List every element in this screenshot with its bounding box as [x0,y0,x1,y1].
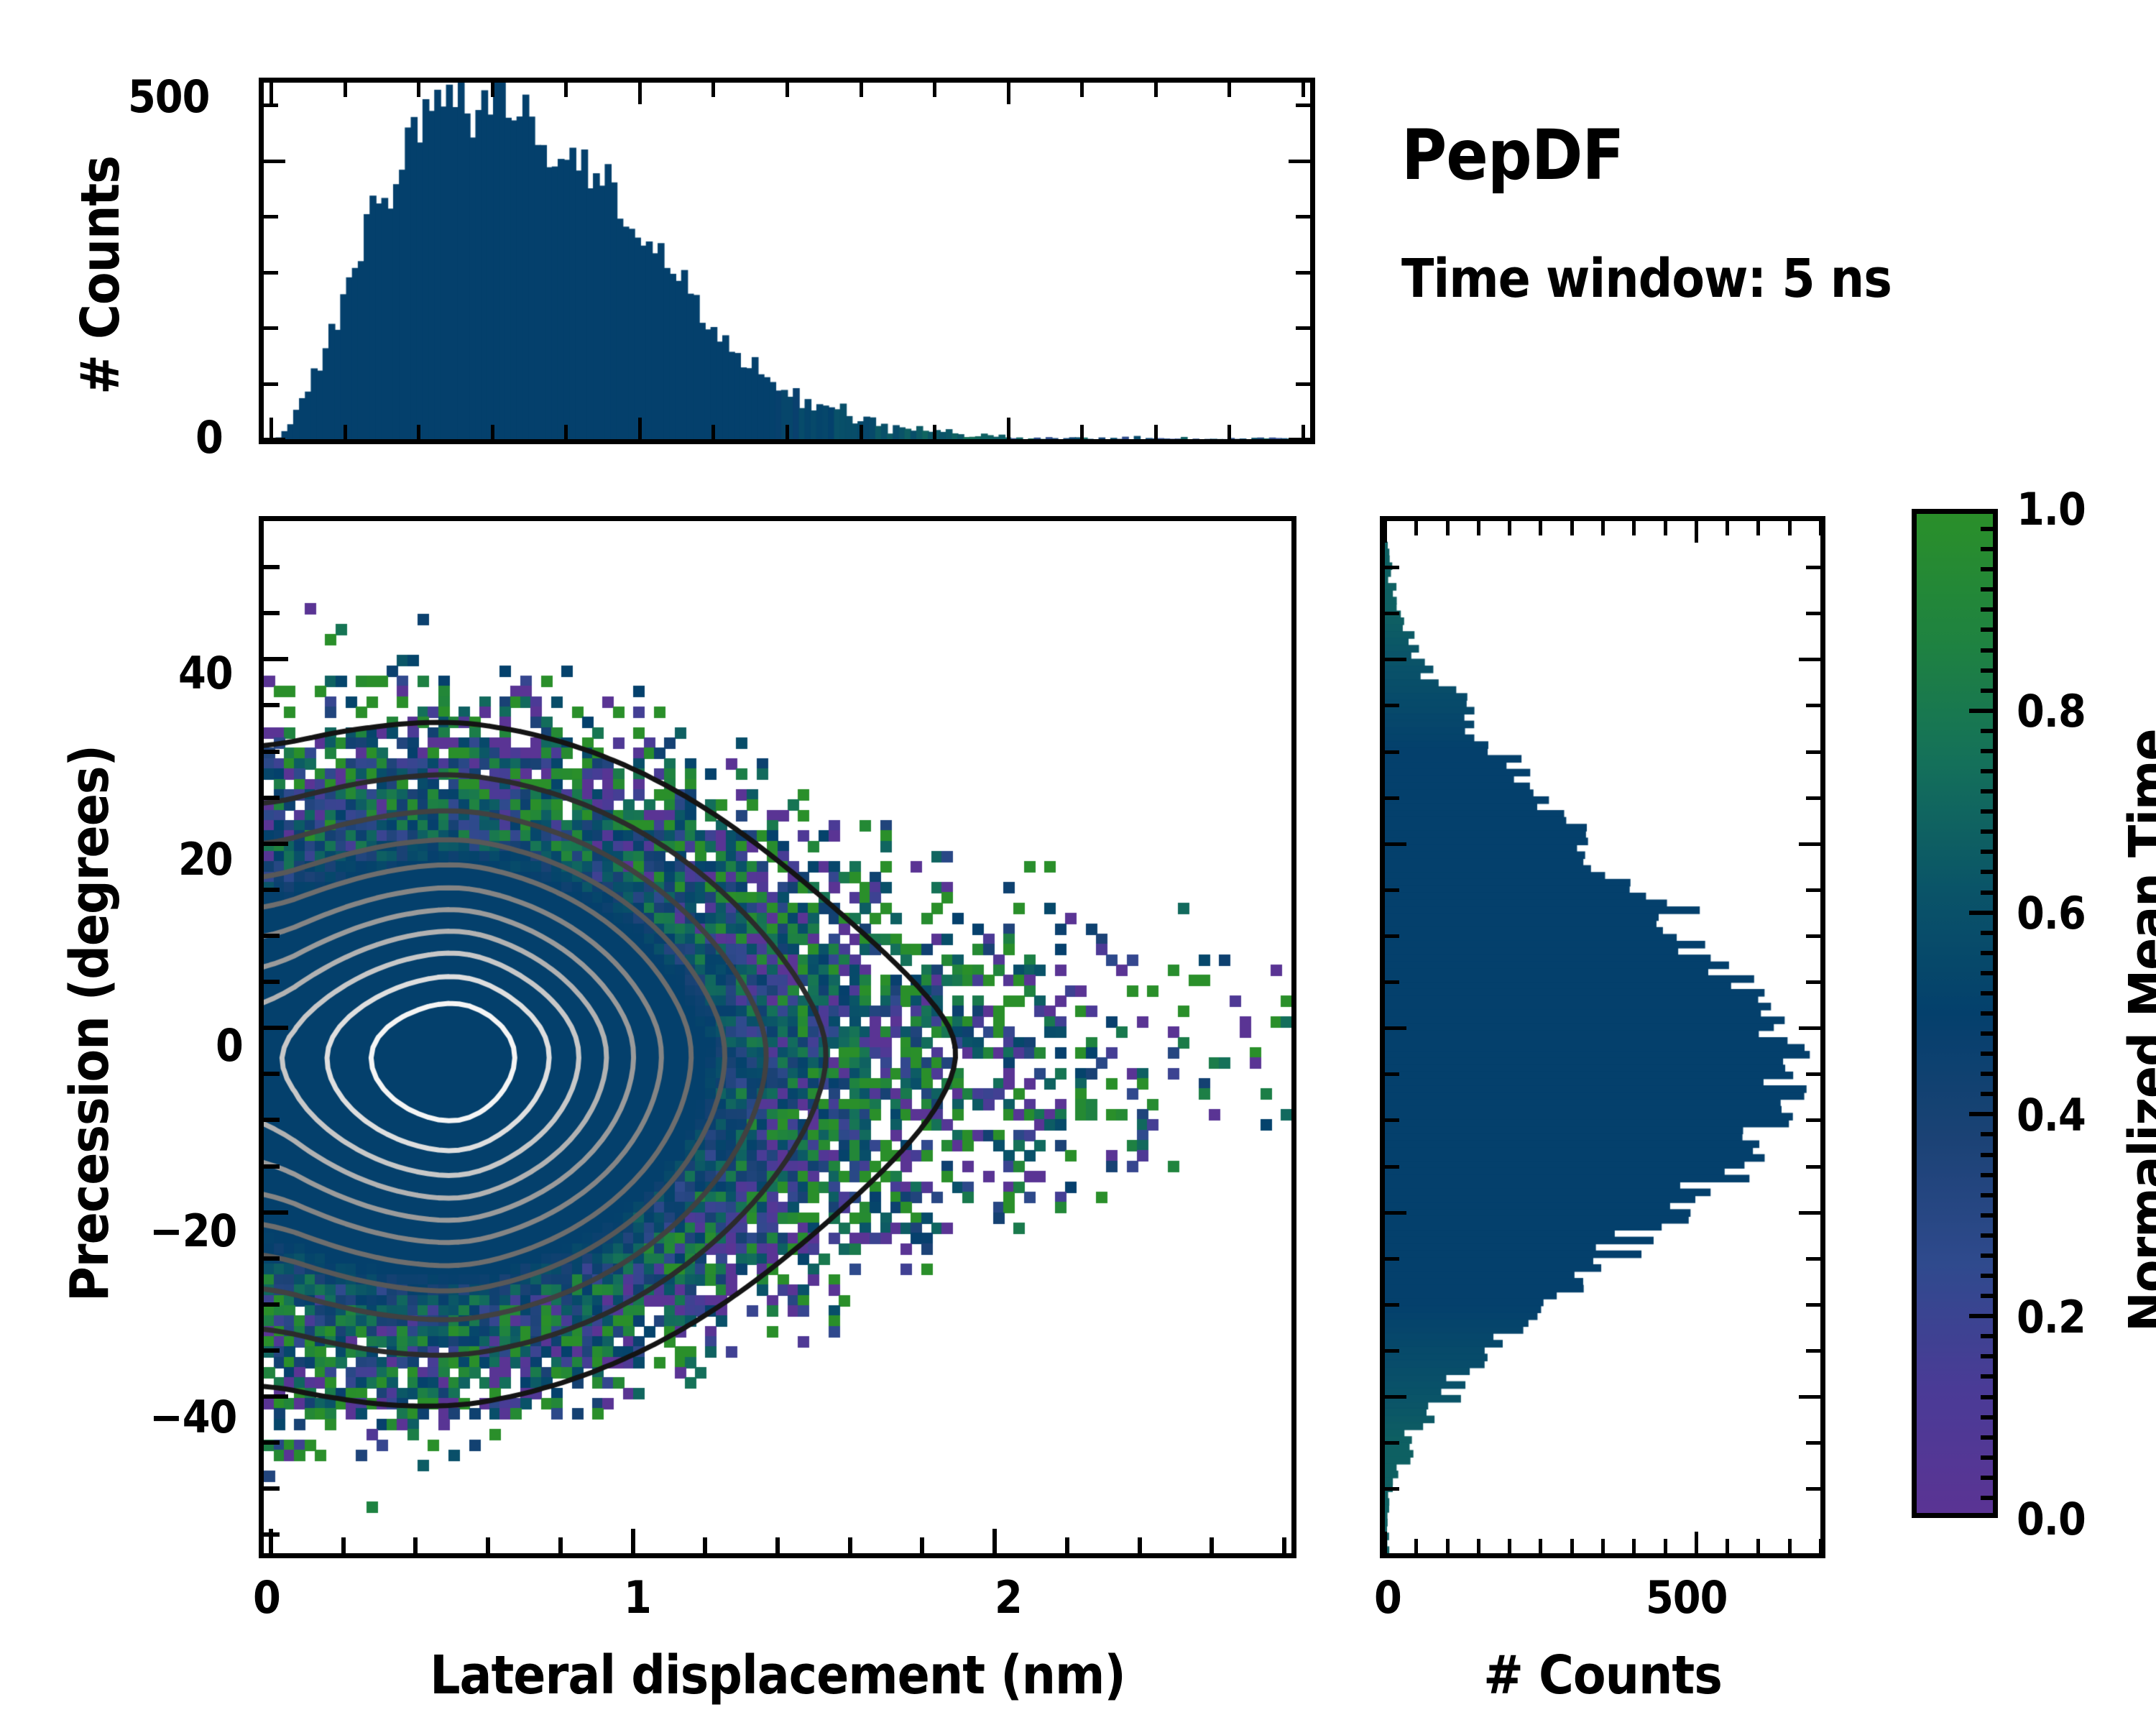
top-hist-xtick-upper [786,83,789,97]
right-hist-ytick [1385,934,1399,938]
colorbar-minor-tick [1981,1193,1998,1197]
top-hist-xtick-upper [269,83,273,104]
top-hist-xtick [1154,425,1158,439]
right-hist-xtick [1539,1539,1542,1553]
top-hist-xtick [933,425,936,439]
top-hist-ytick [264,103,278,107]
main-ytick [264,888,280,892]
main-ytick-40: 40 [178,647,233,699]
main-xtick-2: 2 [995,1571,1022,1624]
colorbar-minor-tick [1981,891,1998,895]
colorbar-minor-tick [1981,1374,1998,1379]
right-hist-ytick [1385,1257,1399,1261]
colorbar-minor-tick [1981,1455,1998,1460]
colorbar-tick-0-0: 0.0 [2017,1493,2086,1545]
top-hist-xtick [1227,425,1231,439]
colorbar-tick-0-6: 0.6 [2017,887,2086,939]
colorbar-minor-tick [1981,547,1998,551]
main-xtick [558,1537,563,1553]
colorbar-minor-tick [1981,567,1998,571]
main-x-axis-title: Lateral displacement (nm) [259,1644,1296,1706]
top-hist-xtick-upper [1007,83,1010,104]
right-hist-ytick-right [1806,1349,1820,1353]
colorbar-minor-tick [1981,749,1998,753]
right-hist-ytick [1385,1441,1399,1445]
top-hist-ytick-right [1289,438,1310,441]
right-hist-xtick-upper [1508,521,1511,535]
main-xtick [413,1537,418,1553]
right-hist-xtick [1601,1539,1605,1553]
top-hist-xtick [417,425,420,439]
right-hist-ytick [1385,658,1406,661]
main-xtick-1: 1 [624,1571,651,1624]
right-hist-xtick-upper [1695,521,1698,543]
top-hist-xtick-upper [1227,83,1231,97]
page-subtitle: Time window: 5 ns [1401,248,1892,310]
right-hist-x-axis-title: # Counts [1380,1644,1825,1706]
right-hist-xtick [1477,1539,1480,1553]
main-xtick [775,1537,780,1553]
colorbar-tick-1-0: 1.0 [2017,483,2086,535]
main-ytick [264,1256,280,1261]
top-hist-xtick-upper [860,83,863,97]
main-ytick-20: 20 [178,833,233,885]
right-hist-ytick-right [1799,1395,1820,1399]
right-hist-ytick-right [1806,888,1820,892]
main-ytick [264,1026,288,1030]
right-hist-ytick [1385,612,1399,615]
colorbar-minor-tick [1981,809,1998,814]
right-hist-ytick-right [1799,1211,1820,1215]
right-hist-xtick-500: 500 [1646,1571,1727,1624]
main-ytick [264,1532,280,1537]
main-ytick [264,1072,280,1076]
right-hist-ytick-right [1806,1072,1820,1076]
colorbar-major-tick [1969,709,1998,713]
main-ytick [264,750,280,754]
colorbar-minor-tick [1981,1435,1998,1440]
colorbar-minor-tick [1981,1072,1998,1076]
main-xtick [1138,1537,1142,1553]
right-hist-ytick [1385,704,1399,707]
right-hist-xtick [1508,1539,1511,1553]
main-y-axis-title: Precession (degrees) [59,799,121,1302]
right-hist-xtick [1695,1532,1698,1553]
right-hist-xtick [1446,1539,1450,1553]
right-hist-ytick-right [1799,658,1820,661]
right-hist-xtick [1383,1532,1387,1553]
colorbar-minor-tick [1981,1334,1998,1338]
colorbar-major-tick [1969,1314,1998,1318]
right-hist-ytick-right [1806,612,1820,615]
right-hist-xtick-upper [1446,521,1450,535]
top-hist-ytick [264,215,278,218]
top-hist-xtick-upper [491,83,494,97]
main-ytick [264,1348,280,1353]
right-hist-ytick-right [1806,1257,1820,1261]
colorbar-minor-tick [1981,1253,1998,1258]
main-ytick [264,565,280,569]
main-xtick [1210,1537,1214,1553]
top-hist-xtick [491,425,494,439]
colorbar-minor-tick [1981,769,1998,773]
right-hist-ytick [1385,1165,1399,1169]
colorbar-minor-tick [1981,1395,1998,1399]
main-ytick-minus20: −20 [149,1205,236,1257]
top-hist-xtick [269,418,273,439]
colorbar-minor-tick [1981,627,1998,632]
top-hist-xtick-upper [933,83,936,97]
main-ytick [264,934,280,938]
right-hist-ytick [1385,1395,1406,1399]
right-hist-xtick [1819,1539,1823,1553]
top-hist-xtick [711,425,715,439]
right-hist-ytick-right [1806,934,1820,938]
right-hist-ytick-right [1806,1165,1820,1169]
right-hist-ytick [1385,1349,1399,1353]
colorbar-minor-tick [1981,527,1998,531]
right-hist-ytick [1385,1303,1399,1307]
colorbar-minor-tick [1981,729,1998,733]
top-hist-xtick [1302,425,1305,439]
colorbar-minor-tick [1981,668,1998,673]
main-ytick [264,980,280,984]
colorbar-minor-tick [1981,1173,1998,1177]
top-hist-ytick-right [1296,382,1310,386]
main-ytick [264,1440,280,1445]
main-ytick [264,657,288,661]
colorbar-major-tick [1969,1112,1998,1116]
main-xtick [631,1529,635,1553]
main-ytick [264,1210,288,1215]
right-hist-ytick [1385,980,1399,984]
colorbar-minor-tick [1981,648,1998,653]
main-ytick [264,1118,280,1122]
colorbar-minor-tick [1981,850,1998,854]
right-hist-ytick-right [1806,1303,1820,1307]
right-hist-ytick-right [1806,1487,1820,1491]
right-hist-ytick [1385,796,1399,800]
colorbar-minor-tick [1981,1496,1998,1500]
top-hist-ytick [264,271,278,275]
right-hist-ytick-right [1806,704,1820,707]
main-xtick-0: 0 [253,1571,280,1624]
main-ytick [264,1164,280,1169]
right-hist-ytick [1385,1072,1399,1076]
top-hist-xtick-upper [638,83,642,104]
colorbar-minor-tick [1981,689,1998,693]
colorbar-minor-tick [1981,1233,1998,1238]
colorbar-minor-tick [1981,870,1998,874]
right-hist-xtick [1414,1539,1418,1553]
top-hist-xtick [564,425,568,439]
main-xtick [1065,1537,1069,1553]
joint-heatmap-panel [259,516,1296,1558]
right-hist-ytick-right [1806,1118,1820,1122]
right-hist-xtick-upper [1570,521,1574,535]
right-hist-ytick-right [1806,750,1820,754]
colorbar-minor-tick [1981,587,1998,592]
main-xtick [1282,1537,1286,1553]
right-hist-ytick [1385,1211,1406,1215]
right-hist-xtick [1788,1539,1792,1553]
colorbar-minor-tick [1981,1294,1998,1298]
top-hist-ytick-right [1296,103,1310,107]
colorbar-tick-0-4: 0.4 [2017,1089,2086,1141]
right-hist-xtick [1664,1539,1667,1553]
right-hist-xtick-upper [1788,521,1792,535]
colorbar-minor-tick [1981,931,1998,935]
top-hist-ytick-right [1296,271,1310,275]
right-hist-ytick-right [1806,980,1820,984]
right-hist-ytick [1385,566,1399,569]
colorbar-minor-tick [1981,1354,1998,1358]
top-hist-ytick-500: 500 [128,70,209,123]
right-hist-xtick-upper [1477,521,1480,535]
right-hist-xtick-upper [1664,521,1667,535]
right-hist-xtick-upper [1383,521,1387,543]
top-hist-xtick-upper [1302,83,1305,97]
colorbar-minor-tick [1981,1132,1998,1136]
colorbar-minor-tick [1981,991,1998,995]
right-hist-xtick-upper [1756,521,1760,535]
main-xtick [848,1537,852,1553]
page-title: PepDF [1401,115,1623,195]
top-hist-ytick-right [1289,160,1310,163]
right-hist-ytick-right [1799,842,1820,846]
right-hist-xtick [1726,1539,1729,1553]
top-marginal-histogram-panel [259,78,1315,444]
colorbar-major-tick [1969,911,1998,915]
main-xtick [920,1537,924,1553]
main-xtick [992,1529,997,1553]
colorbar-tick-0-2: 0.2 [2017,1291,2086,1343]
right-hist-xtick-upper [1414,521,1418,535]
top-hist-ytick-right [1296,326,1310,330]
main-xtick [341,1537,346,1553]
right-hist-xtick-upper [1819,521,1823,535]
right-hist-ytick [1385,1026,1406,1030]
right-hist-ytick [1385,888,1399,892]
colorbar-minor-tick [1981,1052,1998,1056]
colorbar-minor-tick [1981,1415,1998,1420]
colorbar-minor-tick [1981,789,1998,793]
top-hist-xtick-upper [1080,83,1084,97]
colorbar-minor-tick [1981,1092,1998,1096]
colorbar-tick-0-8: 0.8 [2017,685,2086,737]
top-hist-xtick-upper [564,83,568,97]
top-hist-xtick [638,418,642,439]
right-hist-xtick-upper [1726,521,1729,535]
right-hist-xtick-upper [1601,521,1605,535]
top-hist-xtick-upper [711,83,715,97]
top-hist-y-axis-title: # Counts [70,146,132,405]
colorbar-minor-tick [1981,1213,1998,1218]
top-hist-xtick-upper [1154,83,1158,97]
top-hist-xtick-upper [344,83,347,97]
right-hist-xtick-0: 0 [1374,1571,1401,1624]
top-hist-xtick [344,425,347,439]
colorbar-minor-tick [1981,1476,1998,1480]
colorbar-axis-title: Normalized Mean Time [2118,757,2156,1332]
colorbar-minor-tick [1981,607,1998,612]
top-hist-xtick [1007,418,1010,439]
right-hist-ytick [1385,1118,1399,1122]
right-hist-ytick-right [1806,566,1820,569]
colorbar-minor-tick [1981,1153,1998,1157]
right-hist-ytick-right [1799,1026,1820,1030]
right-hist-xtick-upper [1539,521,1542,535]
top-hist-xtick [786,425,789,439]
colorbar-minor-tick [1981,951,1998,955]
colorbar-minor-tick [1981,971,1998,975]
main-ytick [264,1302,280,1307]
right-hist-ytick [1385,1487,1399,1491]
main-xtick [703,1537,707,1553]
right-hist-xtick [1632,1539,1636,1553]
main-ytick-minus40: −40 [149,1391,236,1443]
main-ytick-0: 0 [216,1019,243,1072]
colorbar-minor-tick [1981,1011,1998,1016]
main-ytick [264,611,280,615]
right-hist-xtick [1570,1539,1574,1553]
colorbar-minor-tick [1981,1274,1998,1278]
figure-canvas: 0 500 # Counts PepDF Time window: 5 ns 4… [0,0,2156,1725]
top-hist-ytick [264,326,278,330]
top-hist-ytick [264,382,278,386]
main-ytick [264,703,280,707]
main-ytick [264,796,280,800]
top-hist-ytick-right [1296,215,1310,218]
right-marginal-histogram-panel [1380,516,1825,1558]
main-ytick [264,842,288,846]
top-hist-ytick [264,160,285,163]
main-ytick [264,1486,280,1491]
main-xtick [486,1537,490,1553]
right-hist-ytick-right [1806,1441,1820,1445]
right-hist-ytick [1385,842,1406,846]
top-hist-xtick [860,425,863,439]
top-hist-xtick [1080,425,1084,439]
top-hist-xtick-upper [417,83,420,97]
top-hist-ytick [264,438,285,441]
right-hist-ytick-right [1806,796,1820,800]
top-hist-ytick-0: 0 [195,411,223,464]
right-hist-xtick [1756,1539,1760,1553]
right-hist-ytick [1385,750,1399,754]
colorbar-minor-tick [1981,829,1998,834]
right-hist-xtick-upper [1632,521,1636,535]
colorbar-minor-tick [1981,1031,1998,1036]
main-ytick [264,1394,288,1399]
